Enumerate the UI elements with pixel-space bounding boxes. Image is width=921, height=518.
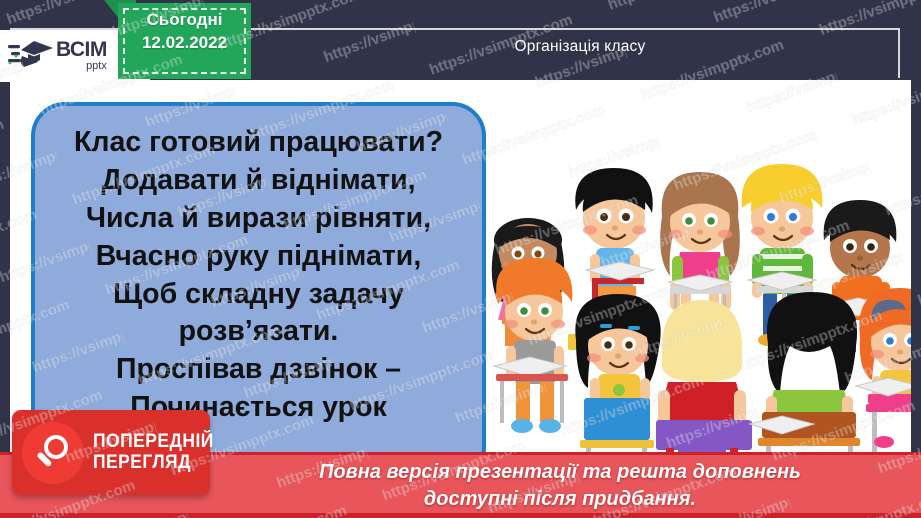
graduation-cap-icon	[8, 39, 54, 73]
brand-logo-text: ВСІМ pptx	[56, 40, 107, 71]
verse-line: Клас готовий працювати?	[45, 124, 472, 162]
verse-line: Додавати й віднімати,	[45, 162, 472, 200]
verse-line: Щоб складну задачу	[45, 276, 472, 314]
brand-suffix: pptx	[56, 61, 107, 71]
magnifier-icon	[22, 422, 84, 484]
date-badge-value: 12.02.2022	[142, 33, 227, 52]
purchase-banner-text: Повна версія презентації та решта доповн…	[240, 459, 880, 513]
classroom-children-illustration	[480, 90, 911, 490]
preview-badge[interactable]: ПОПЕРЕДНІЙ ПЕРЕГЛЯД	[12, 410, 210, 495]
page-title: Організація класу	[300, 38, 860, 56]
date-badge-label: Сьогодні	[147, 10, 223, 29]
verse-line: Вчасно руку піднімати,	[45, 238, 472, 276]
child-redhead-girl	[856, 288, 911, 452]
date-badge: Сьогодні 12.02.2022	[118, 3, 251, 79]
purchase-banner-line1: Повна версія презентації та решта доповн…	[240, 459, 880, 486]
preview-badge-label: ПОПЕРЕДНІЙ ПЕРЕГЛЯД	[93, 432, 224, 472]
verse-line: розв’язати.	[45, 313, 472, 351]
brand-name: ВСІМ	[56, 40, 107, 60]
preview-badge-line2: ПЕРЕГЛЯД	[93, 453, 214, 473]
purchase-banner-line2: доступні після придбання.	[240, 486, 880, 513]
presentation-slide: Організація класу ВСІМ pptx	[0, 0, 921, 518]
verse-line: Проспівав дзвінок –	[45, 351, 472, 389]
verse-line: Числа й вирази рівняти,	[45, 200, 472, 238]
preview-badge-line1: ПОПЕРЕДНІЙ	[93, 432, 214, 452]
